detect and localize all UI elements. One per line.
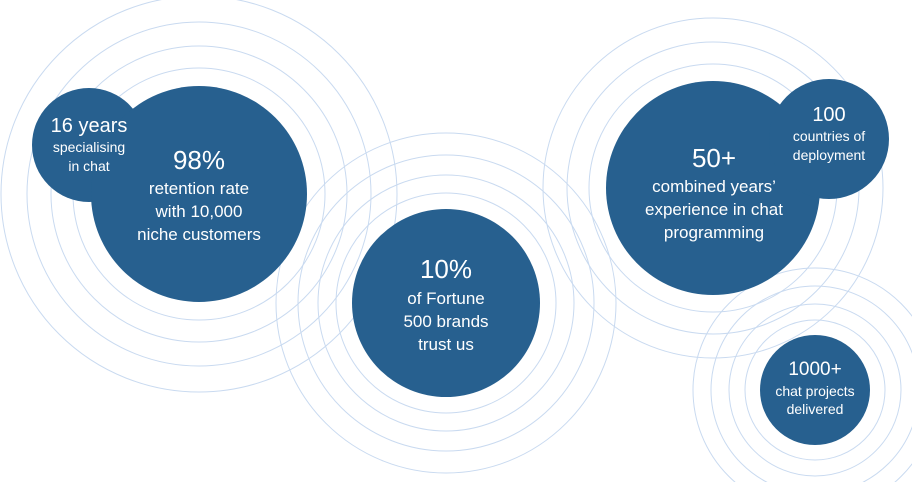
- bubble-projects[interactable]: [760, 335, 870, 445]
- bubble-fortune[interactable]: [352, 209, 540, 397]
- stats-infographic: 16 years specialising in chat 98% retent…: [0, 0, 912, 482]
- bubble-countries[interactable]: [769, 79, 889, 199]
- bubble-graphic: [0, 0, 912, 482]
- bubble-retention[interactable]: [91, 86, 307, 302]
